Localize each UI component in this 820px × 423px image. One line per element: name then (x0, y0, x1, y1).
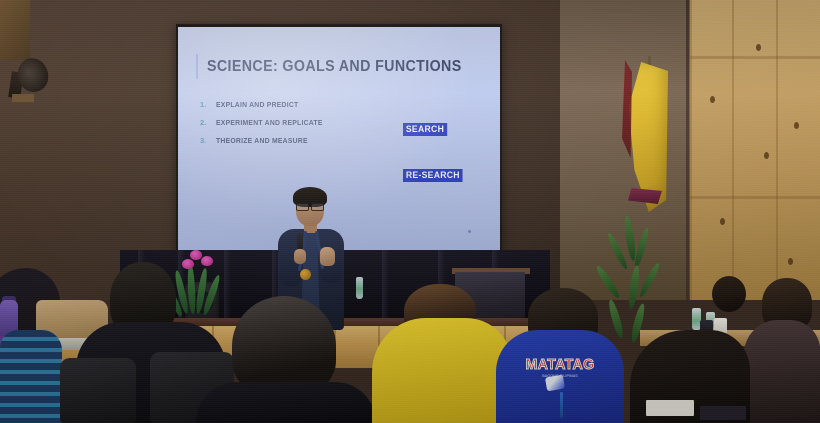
ceiling-beam (0, 0, 30, 60)
title-accent-bar (196, 54, 198, 79)
list-item: 2. EXPERIMENT AND REPLICATE (200, 118, 390, 127)
yellow-jacket-person (372, 318, 512, 423)
presentation-photo-scene: SCIENCE: GOALS AND FUNCTIONS 1. EXPLAIN … (0, 0, 820, 423)
list-item: 1. EXPLAIN AND PREDICT (200, 100, 390, 109)
list-item-label: EXPERIMENT AND REPLICATE (216, 118, 323, 127)
list-item-label: THEORIZE AND MEASURE (216, 136, 308, 145)
paper-sheet (646, 400, 694, 416)
plant-right (600, 215, 670, 345)
list-item-number: 3. (200, 136, 209, 145)
list-item: 3. THEORIZE AND MEASURE (200, 136, 390, 145)
audience-member-right (744, 320, 820, 423)
stage-water-bottle (356, 277, 363, 299)
medal-icon (300, 269, 311, 280)
list-item-number: 2. (200, 118, 209, 127)
notebook (700, 406, 746, 420)
pen (560, 392, 563, 418)
wall-fan-icon (10, 58, 50, 100)
highlight-search: SEARCH (403, 123, 447, 136)
audience-head-foreground (232, 296, 336, 396)
orchid-flower (182, 259, 194, 269)
highlight-re-search: RE-SEARCH (403, 169, 463, 182)
audience-head (712, 276, 746, 312)
orchid-flower (190, 250, 202, 260)
slide-cursor-dot (468, 230, 471, 233)
plant-left-orchid (168, 248, 230, 320)
list-item-number: 1. (200, 100, 209, 109)
presenter-open-hand (320, 247, 335, 266)
slide-title-block: SCIENCE: GOALS AND FUNCTIONS (196, 54, 484, 79)
striped-shirt-person (0, 330, 62, 423)
slide-title: SCIENCE: GOALS AND FUNCTIONS (207, 58, 462, 76)
orchid-flower (201, 256, 213, 266)
eyeglasses-icon (296, 203, 324, 209)
presenter-hand-holding-mic (294, 249, 306, 264)
list-item-label: EXPLAIN AND PREDICT (216, 100, 298, 109)
wooden-panel-wall (690, 0, 820, 300)
audience-member-foreground (196, 382, 376, 423)
wall-seam (686, 0, 689, 300)
slide-bullet-list: 1. EXPLAIN AND PREDICT 2. EXPERIMENT AND… (200, 100, 390, 154)
chair-back (60, 358, 136, 423)
matatag-shirt-text: MATATAG (511, 356, 610, 373)
